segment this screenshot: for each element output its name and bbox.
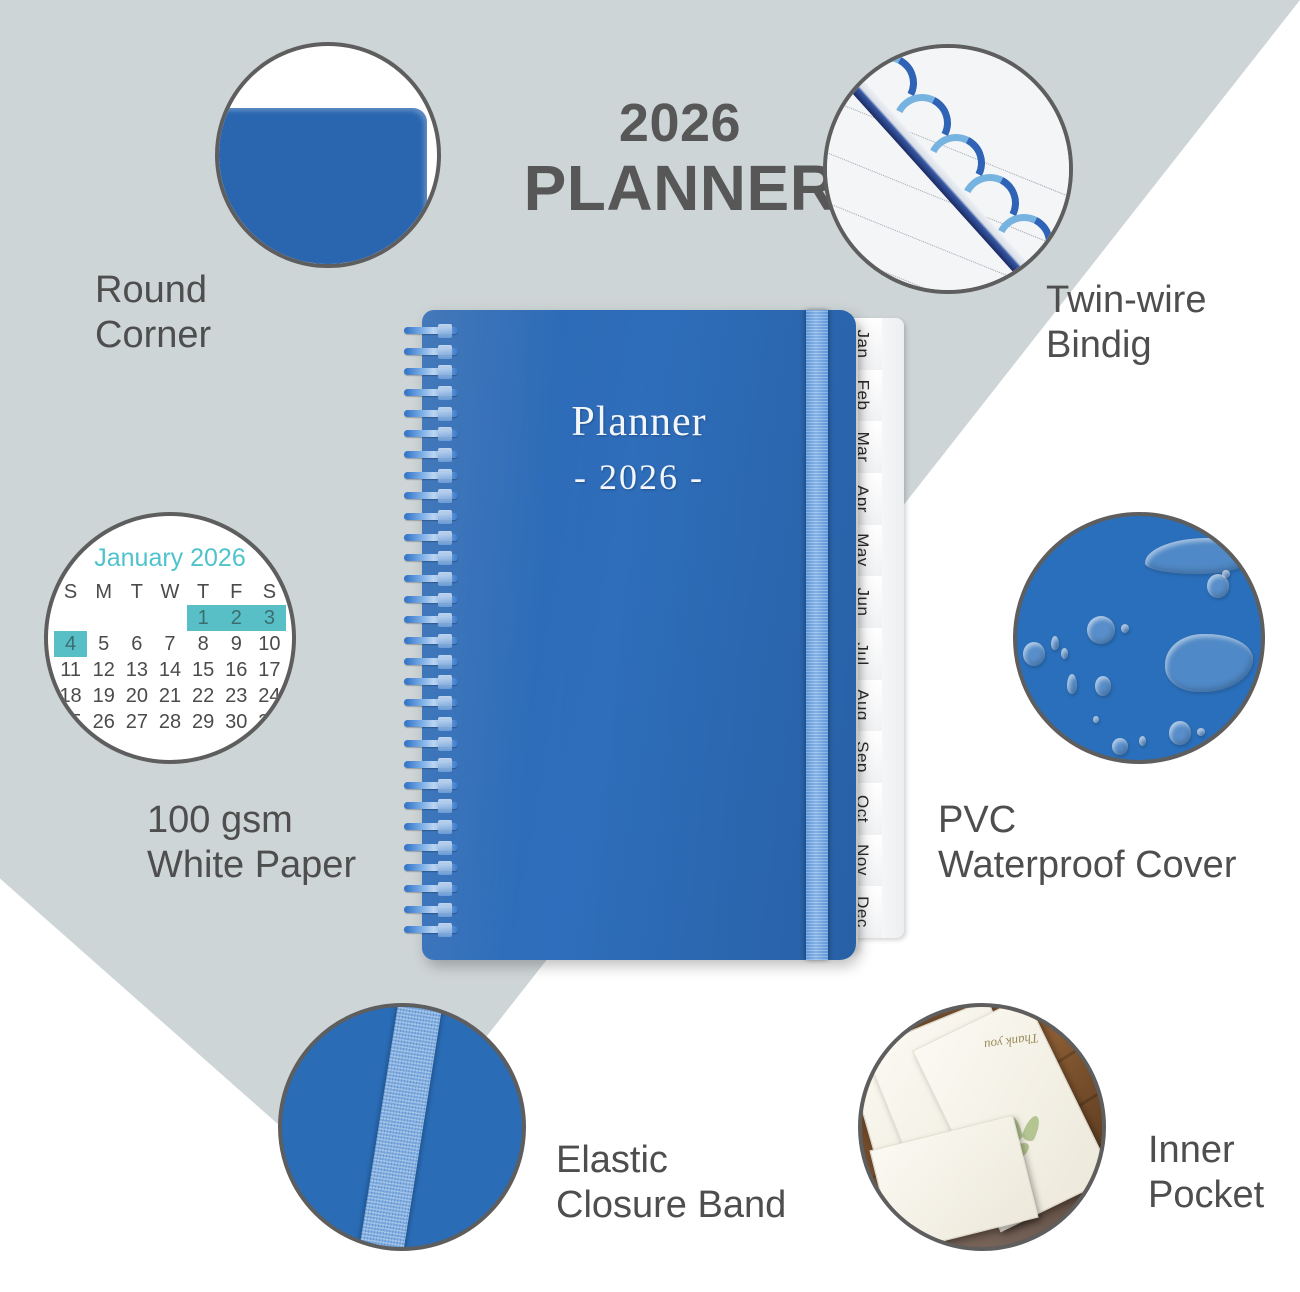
planner-cover: Planner - 2026 - <box>422 310 856 960</box>
title-year: 2026 <box>520 96 840 150</box>
inner-pocket-card-text: Thank you <box>984 1029 1040 1052</box>
feature-label-pvc-waterproof: PVC Waterproof Cover <box>938 798 1236 888</box>
calendar-day-cell: 24 <box>253 683 286 709</box>
planner-wire-coil <box>404 324 462 944</box>
wire-coil-ring <box>404 510 460 524</box>
calendar-weekday-header: T <box>120 579 153 605</box>
calendar-day-cell: 23 <box>220 683 253 709</box>
wire-coil-ring <box>404 365 460 379</box>
feature-label-white-paper: 100 gsm White Paper <box>147 798 356 888</box>
calendar-empty-cell <box>153 605 186 631</box>
planner-product-image: JanFebMarAprMayJunJulAugSepOctNovDec Pla… <box>404 310 904 960</box>
title-word: PLANNER <box>520 156 840 220</box>
feature-circle-pvc-waterproof <box>1013 512 1265 764</box>
wire-coil-ring <box>404 613 460 627</box>
calendar-weekday-header: S <box>253 579 286 605</box>
feature-circle-white-paper: January 2026 SMTWTFS 1234567891011121314… <box>44 512 296 764</box>
wire-coil-ring <box>404 841 460 855</box>
calendar-week-row: 18192021222324 <box>54 683 286 709</box>
calendar-day-cell: 4 <box>54 631 87 657</box>
calendar-day-cell: 21 <box>153 683 186 709</box>
wire-coil-ring <box>404 407 460 421</box>
calendar-day-cell: 15 <box>187 657 220 683</box>
wire-coil-ring <box>404 634 460 648</box>
calendar-day-cell: 13 <box>120 657 153 683</box>
calendar-weekday-header: W <box>153 579 186 605</box>
calendar-empty-cell <box>120 605 153 631</box>
calendar-day-cell: 12 <box>87 657 120 683</box>
inner-pocket-icon: Thank you <box>862 1007 1102 1247</box>
wire-coil-ring <box>404 489 460 503</box>
feature-label-inner-pocket: Inner Pocket <box>1148 1128 1264 1218</box>
calendar-day-cell: 28 <box>153 709 186 735</box>
wire-coil-ring <box>404 675 460 689</box>
twin-wire-binding-icon <box>827 48 1069 290</box>
calendar-day-cell: 31 <box>253 709 286 735</box>
feature-label-twin-wire: Twin-wire Bindig <box>1046 278 1206 368</box>
feature-circle-inner-pocket: Thank you <box>858 1003 1106 1251</box>
calendar-day-cell: 10 <box>253 631 286 657</box>
calendar-day-cell: 29 <box>187 709 220 735</box>
calendar-day-cell: 6 <box>120 631 153 657</box>
calendar-weekday-row: SMTWTFS <box>54 579 286 605</box>
calendar-day-cell: 22 <box>187 683 220 709</box>
product-infographic: 2026 PLANNER Round Corner Twin-wire Bind… <box>0 0 1300 1292</box>
calendar-day-cell: 2 <box>220 605 253 631</box>
calendar-week-row: 11121314151617 <box>54 657 286 683</box>
feature-label-round-corner: Round Corner <box>95 268 211 358</box>
wire-coil-ring <box>404 531 460 545</box>
feature-label-elastic-closure: Elastic Closure Band <box>556 1138 786 1228</box>
calendar-day-cell: 3 <box>253 605 286 631</box>
calendar-weekday-header: T <box>187 579 220 605</box>
calendar-day-cell: 26 <box>87 709 120 735</box>
calendar-day-cell: 20 <box>120 683 153 709</box>
wire-coil-ring <box>404 572 460 586</box>
elastic-band-icon <box>352 1003 447 1251</box>
cover-text-block: Planner - 2026 - <box>422 398 856 498</box>
feature-circle-twin-wire <box>823 44 1073 294</box>
page-title: 2026 PLANNER <box>520 96 840 220</box>
calendar-week-row: 123 <box>54 605 286 631</box>
calendar-day-cell: 7 <box>153 631 186 657</box>
wire-coil-ring <box>404 820 460 834</box>
cover-year: - 2026 - <box>422 456 856 498</box>
calendar-week-row: 45678910 <box>54 631 286 657</box>
wire-coil-ring <box>404 345 460 359</box>
calendar-day-cell: 8 <box>187 631 220 657</box>
feature-circle-round-corner <box>215 42 441 268</box>
calendar-day-cell: 5 <box>87 631 120 657</box>
wire-coil-ring <box>404 448 460 462</box>
calendar-month-title: January 2026 <box>48 544 292 573</box>
wire-coil-ring <box>404 655 460 669</box>
wire-coil-ring <box>404 427 460 441</box>
calendar-empty-cell <box>54 605 87 631</box>
calendar-day-cell: 18 <box>54 683 87 709</box>
calendar-day-cell: 1 <box>187 605 220 631</box>
wire-coil-ring <box>404 882 460 896</box>
wire-coil-ring <box>404 779 460 793</box>
wire-coil-ring <box>404 593 460 607</box>
wire-coil-ring <box>404 903 460 917</box>
calendar-day-cell: 27 <box>120 709 153 735</box>
calendar-weekday-header: M <box>87 579 120 605</box>
calendar-week-row: 25262728293031 <box>54 709 286 735</box>
wire-coil-ring <box>404 861 460 875</box>
cover-title: Planner <box>422 398 856 446</box>
wire-coil-ring <box>404 324 460 338</box>
water-droplets-icon <box>1017 516 1261 760</box>
calendar-day-cell: 9 <box>220 631 253 657</box>
wire-coil-ring <box>404 737 460 751</box>
wire-coil-ring <box>404 717 460 731</box>
calendar-weekday-header: F <box>220 579 253 605</box>
wire-coil-ring <box>404 758 460 772</box>
rounded-corner-icon <box>215 108 427 268</box>
feature-circle-elastic-closure <box>278 1003 526 1251</box>
calendar-empty-cell <box>87 605 120 631</box>
calendar-weekday-header: S <box>54 579 87 605</box>
calendar-day-cell: 25 <box>54 709 87 735</box>
calendar-day-cell: 16 <box>220 657 253 683</box>
wire-coil-ring <box>404 923 460 937</box>
calendar-icon: January 2026 SMTWTFS 1234567891011121314… <box>48 516 292 760</box>
wire-coil-ring <box>404 696 460 710</box>
wire-coil-ring <box>404 551 460 565</box>
calendar-grid: SMTWTFS 12345678910111213141516171819202… <box>54 579 286 735</box>
calendar-day-cell: 11 <box>54 657 87 683</box>
wire-coil-ring <box>404 386 460 400</box>
wire-coil-ring <box>404 799 460 813</box>
calendar-day-cell: 19 <box>87 683 120 709</box>
calendar-day-cell: 30 <box>220 709 253 735</box>
wire-coil-ring <box>404 469 460 483</box>
calendar-day-cell: 17 <box>253 657 286 683</box>
calendar-day-cell: 14 <box>153 657 186 683</box>
planner-elastic-band <box>806 310 828 960</box>
